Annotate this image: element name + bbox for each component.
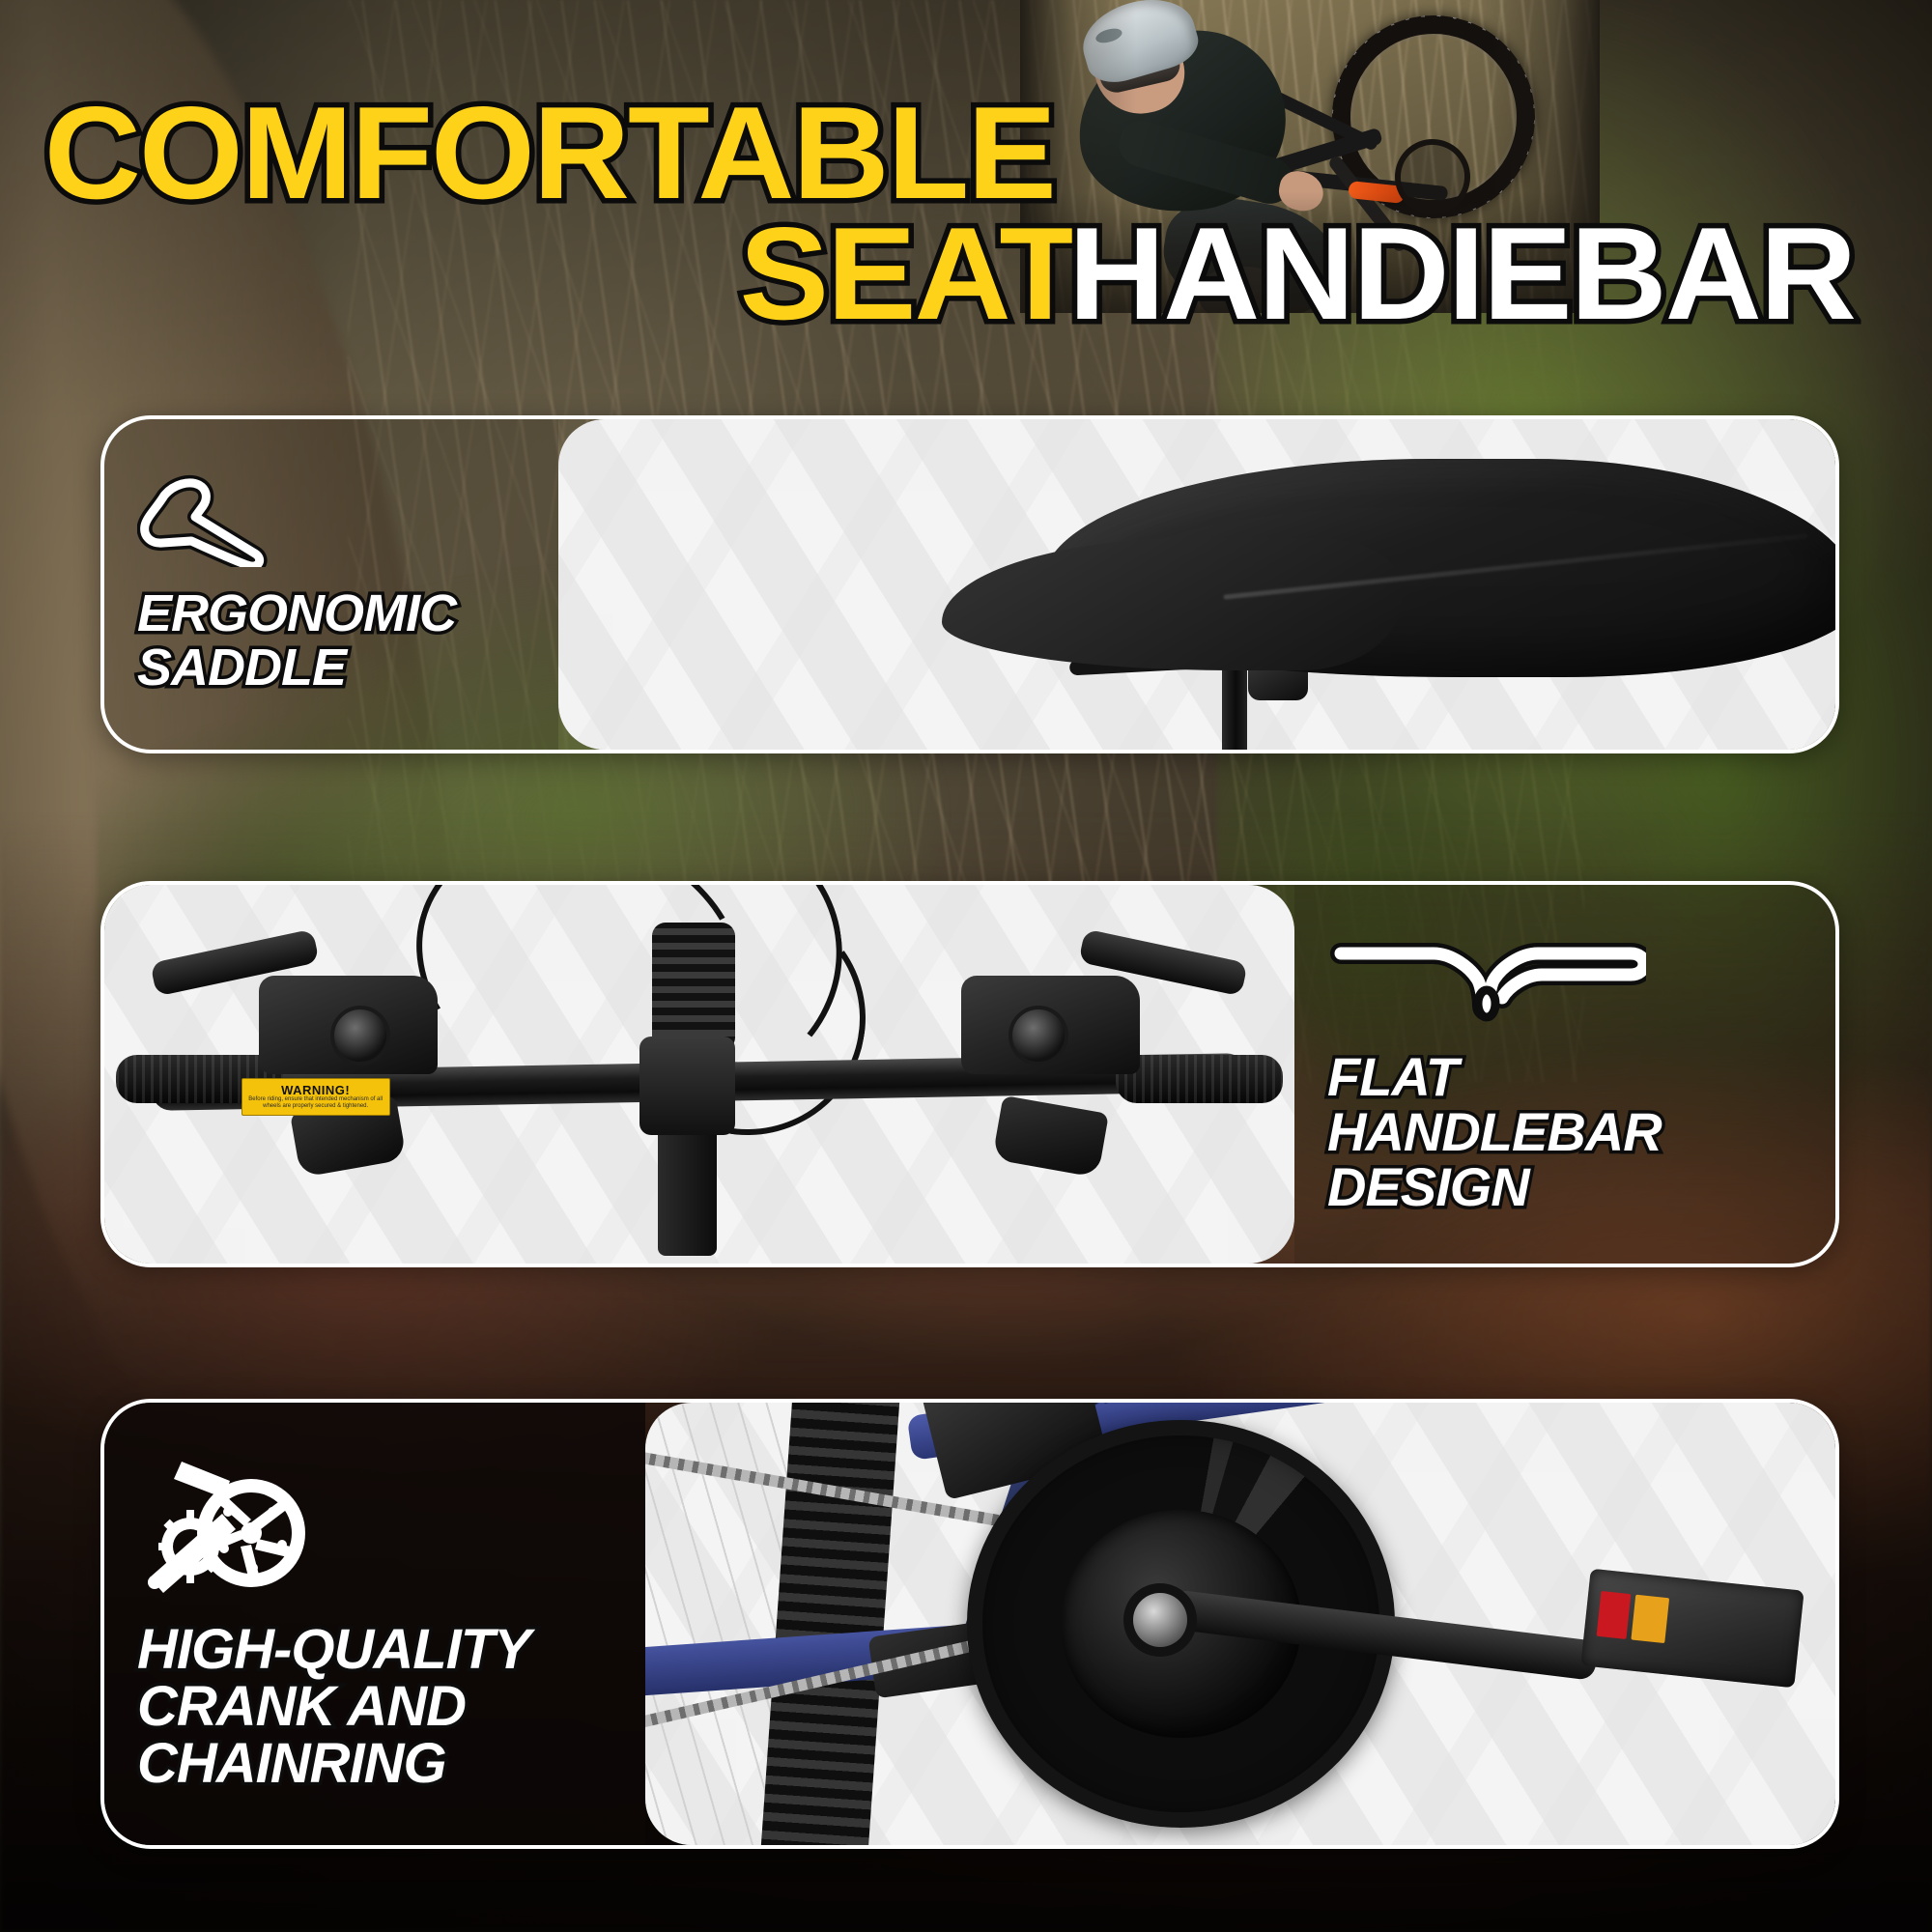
- feature-label-text-saddle: ERGONOMIC SADDLE: [137, 587, 526, 694]
- crank-bottom-bracket-bolt: [1133, 1593, 1187, 1647]
- headline-word-seat: SEAT: [740, 213, 1080, 334]
- headline-line-1: COMFORTABLE: [54, 93, 1864, 213]
- feature-label-block-saddle: ERGONOMIC SADDLE: [104, 419, 558, 750]
- feature-card-crank-chainring[interactable]: HIGH-QUALITY CRANK AND CHAINRING SUMMITO…: [100, 1399, 1839, 1849]
- feature-card-ergonomic-saddle[interactable]: ERGONOMIC SADDLE: [100, 415, 1839, 753]
- warning-sticker-title: WARNING!: [281, 1084, 350, 1096]
- feature-card-flat-handlebar[interactable]: WARNING! Before riding, ensure that inte…: [100, 881, 1839, 1267]
- warning-sticker-body: Before riding, ensure that intended mech…: [242, 1096, 389, 1110]
- infographic-canvas: COMFORTABLE SEATHANDIEBAR ERGONOMIC SADD…: [0, 0, 1932, 1932]
- feature-label-block-crank: HIGH-QUALITY CRANK AND CHAINRING: [104, 1403, 645, 1845]
- feature-label-text-crank: HIGH-QUALITY CRANK AND CHAINRING: [137, 1621, 612, 1792]
- headline-block: COMFORTABLE SEATHANDIEBAR: [0, 93, 1864, 334]
- headline-line-2: SEATHANDIEBAR: [54, 213, 1864, 334]
- headline-word-comfortable: COMFORTABLE: [44, 93, 1055, 213]
- handlebar-front-tire: [652, 923, 735, 1051]
- handlebar-steerer-tube: [658, 1120, 718, 1256]
- bicycle-saddle-photo: [558, 419, 1835, 750]
- flat-handlebar-icon: [1327, 934, 1803, 1034]
- crank-chainring-icon: [137, 1456, 612, 1605]
- feature-label-block-handlebar: FLAT HANDLEBAR DESIGN: [1294, 885, 1835, 1264]
- feature-label-text-handlebar: FLAT HANDLEBAR DESIGN: [1327, 1049, 1803, 1214]
- bicycle-saddle-icon: [137, 474, 526, 572]
- handlebar-warning-sticker: WARNING! Before riding, ensure that inte…: [241, 1078, 390, 1116]
- headline-word-handiebar: HANDIEBAR: [1068, 213, 1855, 334]
- handlebar-gear-indicator-right: [1009, 1006, 1068, 1065]
- handlebar-stem: [639, 1037, 735, 1135]
- flat-handlebar-photo: WARNING! Before riding, ensure that inte…: [104, 885, 1294, 1264]
- handlebar-grip-right: [1116, 1055, 1282, 1103]
- crank-and-chainring-photo: SUMMITONE: [645, 1403, 1835, 1845]
